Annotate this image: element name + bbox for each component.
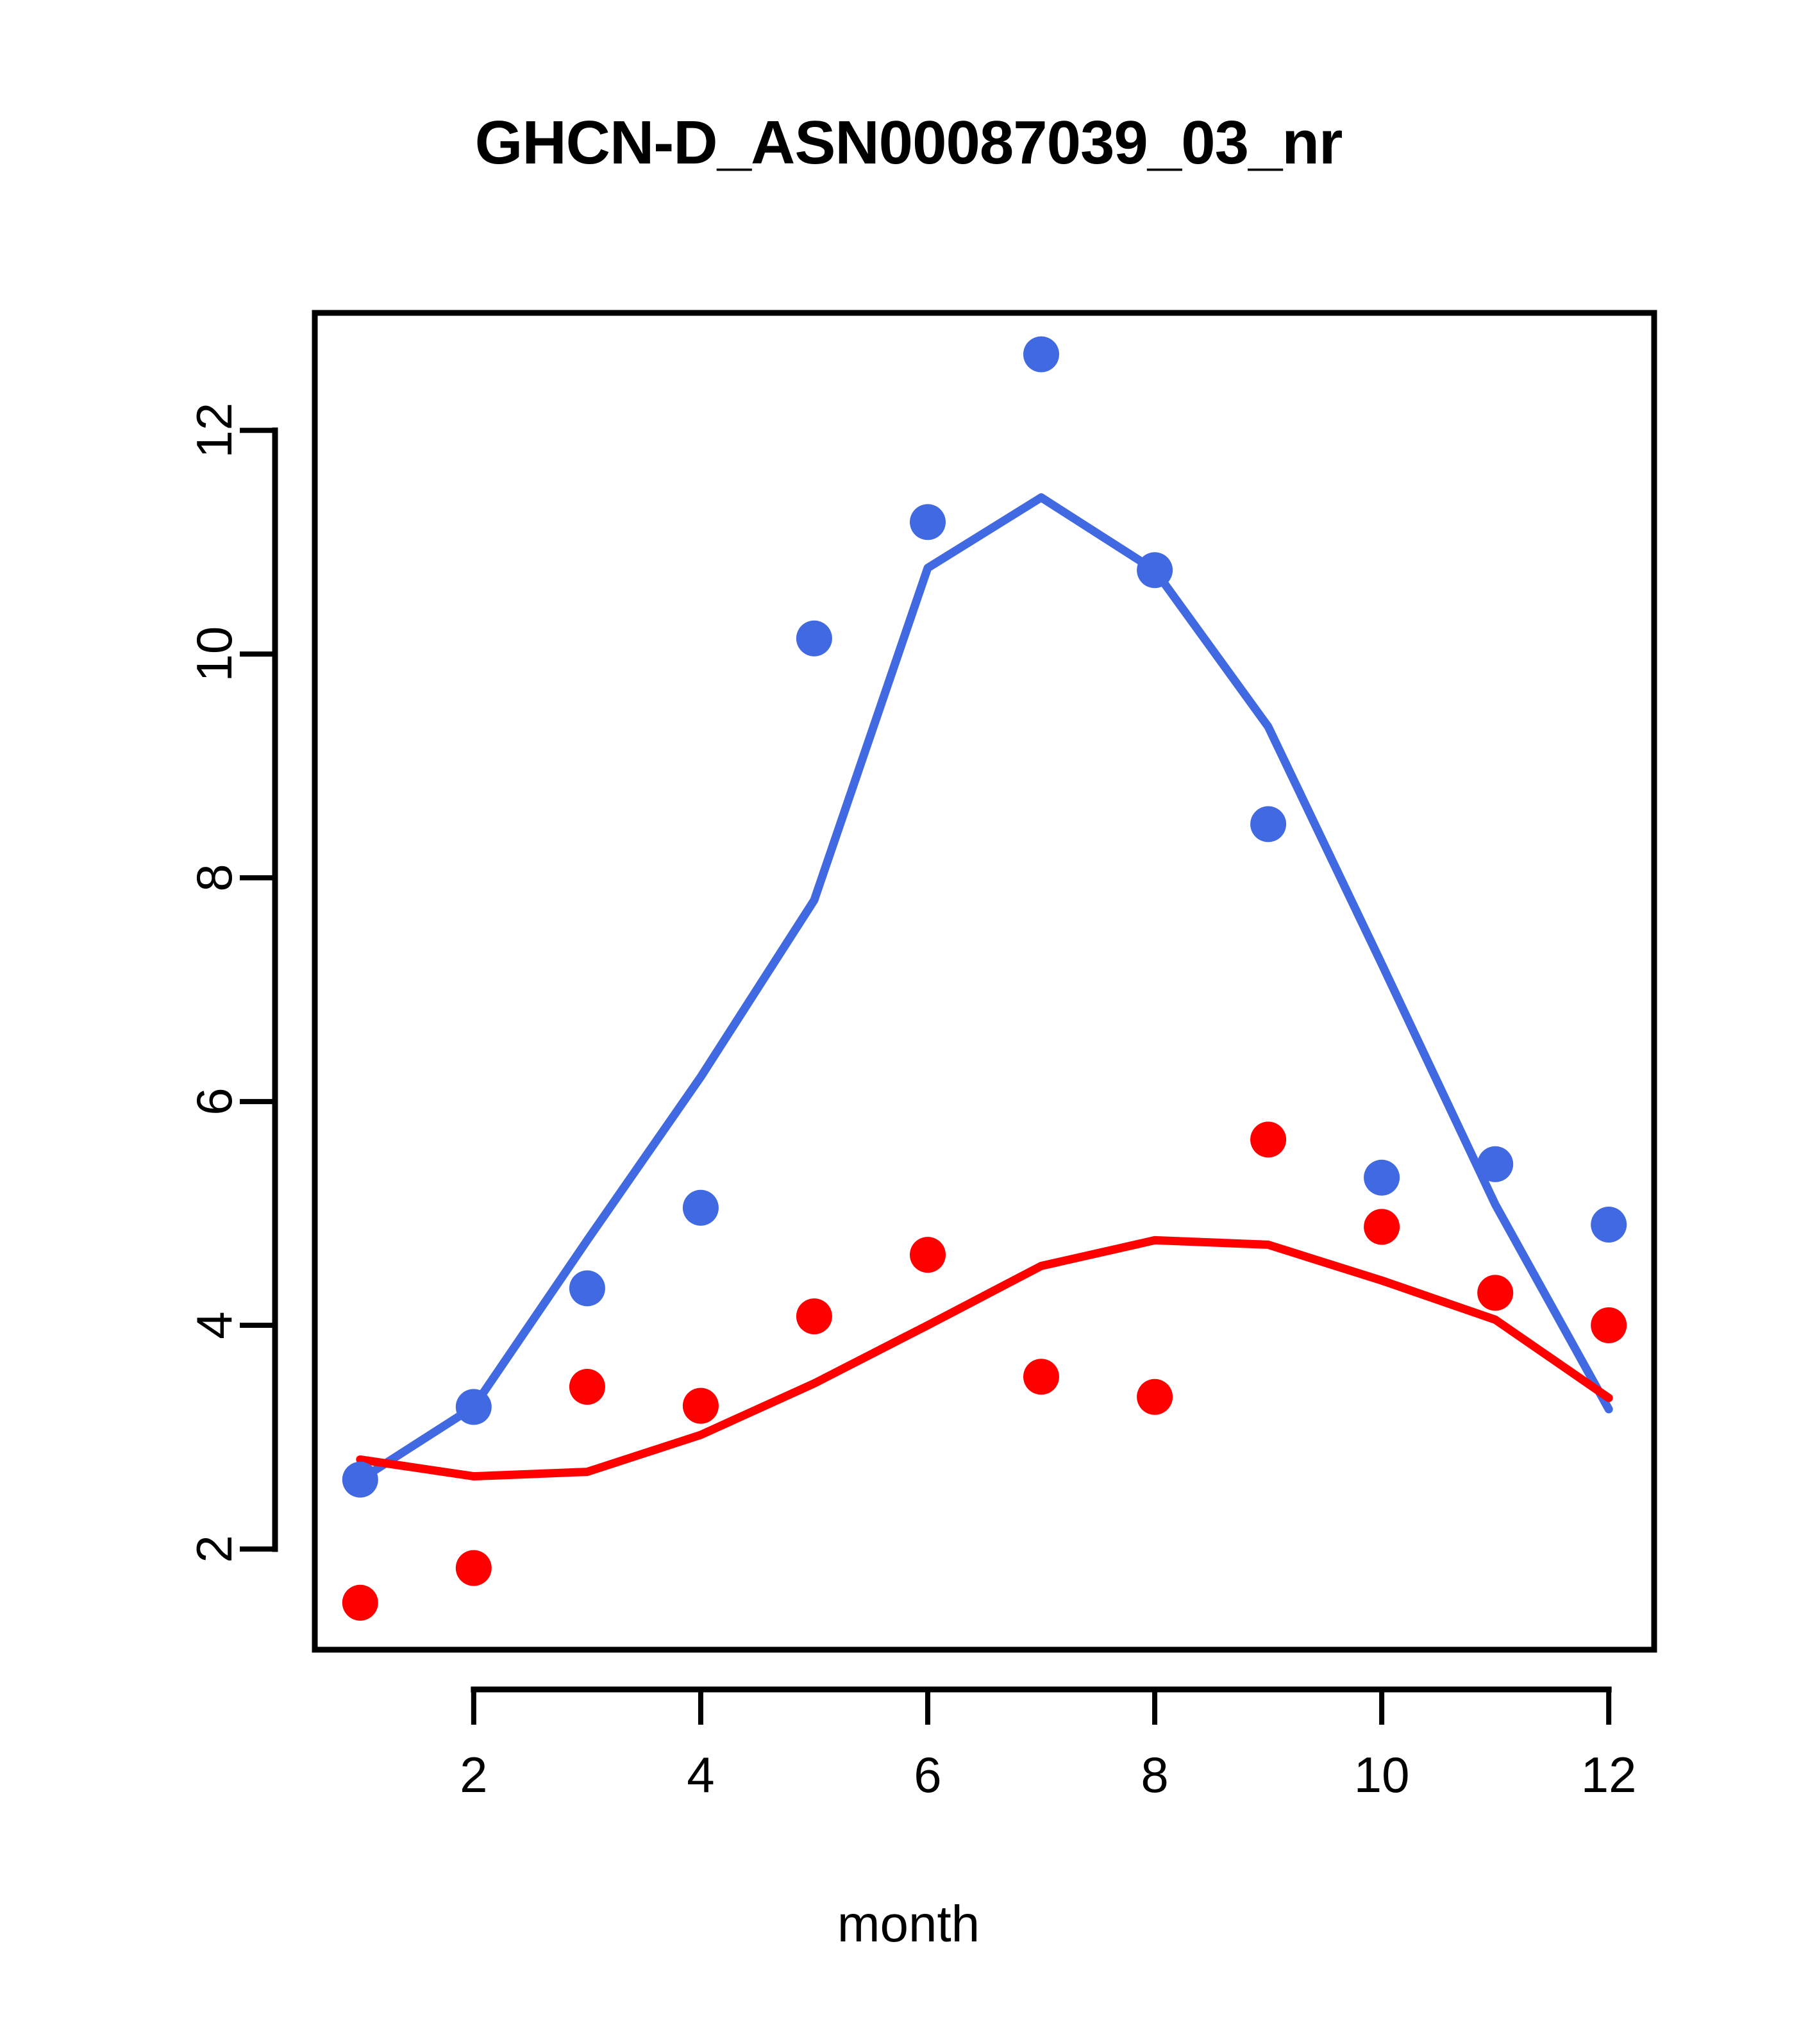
plot-canvas: 24681012 24681012 [0,0,1817,2044]
data-point [342,1585,378,1621]
series-line-blue-line [360,498,1609,1480]
data-point [796,621,832,657]
chart-figure: GHCN-D_ASN00087039_03_nr 24681012 246810… [0,0,1817,2044]
x-tick-label: 6 [914,1747,941,1803]
data-point [1137,552,1173,588]
y-axis: 24681012 [186,403,275,1563]
data-point [910,504,946,540]
data-point [796,1298,832,1334]
plot-panel [315,313,1654,1650]
x-axis-label: month [0,1895,1817,1954]
x-tick-label: 12 [1581,1747,1637,1803]
series-lines [360,498,1609,1480]
y-tick-label: 4 [186,1311,242,1339]
data-point [1250,806,1286,842]
x-tick-label: 8 [1141,1747,1168,1803]
data-point [569,1270,605,1306]
data-point [1364,1209,1400,1245]
data-point [683,1388,719,1424]
data-point [456,1389,492,1425]
data-point [342,1462,378,1498]
data-point [910,1237,946,1273]
y-tick-label: 10 [186,626,242,682]
data-point [1591,1207,1627,1243]
data-point [1023,337,1059,373]
data-point [569,1369,605,1405]
data-point [1364,1160,1400,1196]
data-point [1137,1379,1173,1415]
data-point [1477,1146,1513,1182]
y-tick-label: 12 [186,403,242,458]
y-tick-label: 8 [186,864,242,891]
x-axis: 24681012 [460,1689,1636,1803]
y-tick-label: 2 [186,1535,242,1562]
x-tick-label: 10 [1354,1747,1410,1803]
plot-border [315,313,1654,1650]
series-line-red-line [360,1240,1609,1476]
data-point [1591,1307,1627,1343]
x-tick-label: 4 [687,1747,714,1803]
x-tick-label: 2 [460,1747,487,1803]
data-point [1477,1275,1513,1311]
data-point [456,1550,492,1586]
data-point [683,1190,719,1226]
data-point [1250,1121,1286,1157]
y-tick-label: 6 [186,1087,242,1115]
data-point [1023,1359,1059,1395]
